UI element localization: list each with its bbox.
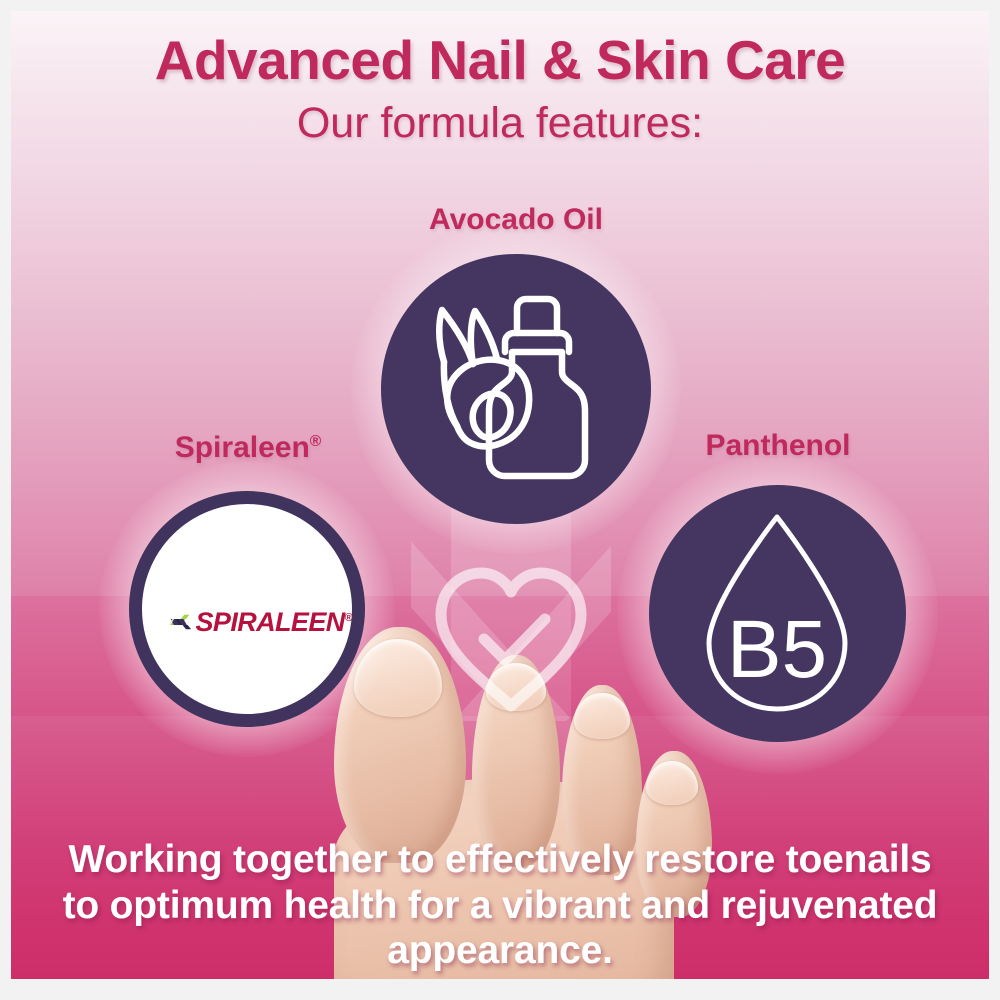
ingredient-circle-panthenol[interactable]: B5 xyxy=(649,485,906,742)
poster-canvas: Advanced Nail & Skin Care Our formula fe… xyxy=(11,11,989,979)
droplet-b5-icon: B5 xyxy=(649,485,906,742)
ingredient-label-spiraleen: Spiraleen® xyxy=(83,431,413,465)
helix-ribbon-icon xyxy=(168,601,195,643)
ingredient-label-avocado-oil: Avocado Oil xyxy=(351,203,681,237)
spiraleen-wordmark: SPIRALEEN® xyxy=(196,609,352,636)
spiraleen-label-text: Spiraleen xyxy=(175,431,310,464)
footer-statement: Working together to effectively restore … xyxy=(61,837,939,974)
poster-root: Advanced Nail & Skin Care Our formula fe… xyxy=(0,0,1000,1000)
avocado-bottle-icon xyxy=(381,254,651,524)
registered-mark-icon: ® xyxy=(345,612,352,624)
droplet-b5-text: B5 xyxy=(727,604,827,695)
ingredient-circle-spiraleen[interactable]: SPIRALEEN® xyxy=(129,491,365,727)
page-subtitle: Our formula features: xyxy=(11,99,989,148)
ingredient-circle-avocado-oil[interactable] xyxy=(381,254,651,524)
page-title: Advanced Nail & Skin Care xyxy=(11,28,989,92)
ingredient-label-panthenol: Panthenol xyxy=(613,429,943,463)
heart-check-watermark xyxy=(429,563,593,713)
spiraleen-logo: SPIRALEEN® xyxy=(168,596,352,648)
registered-mark-icon: ® xyxy=(310,433,322,450)
